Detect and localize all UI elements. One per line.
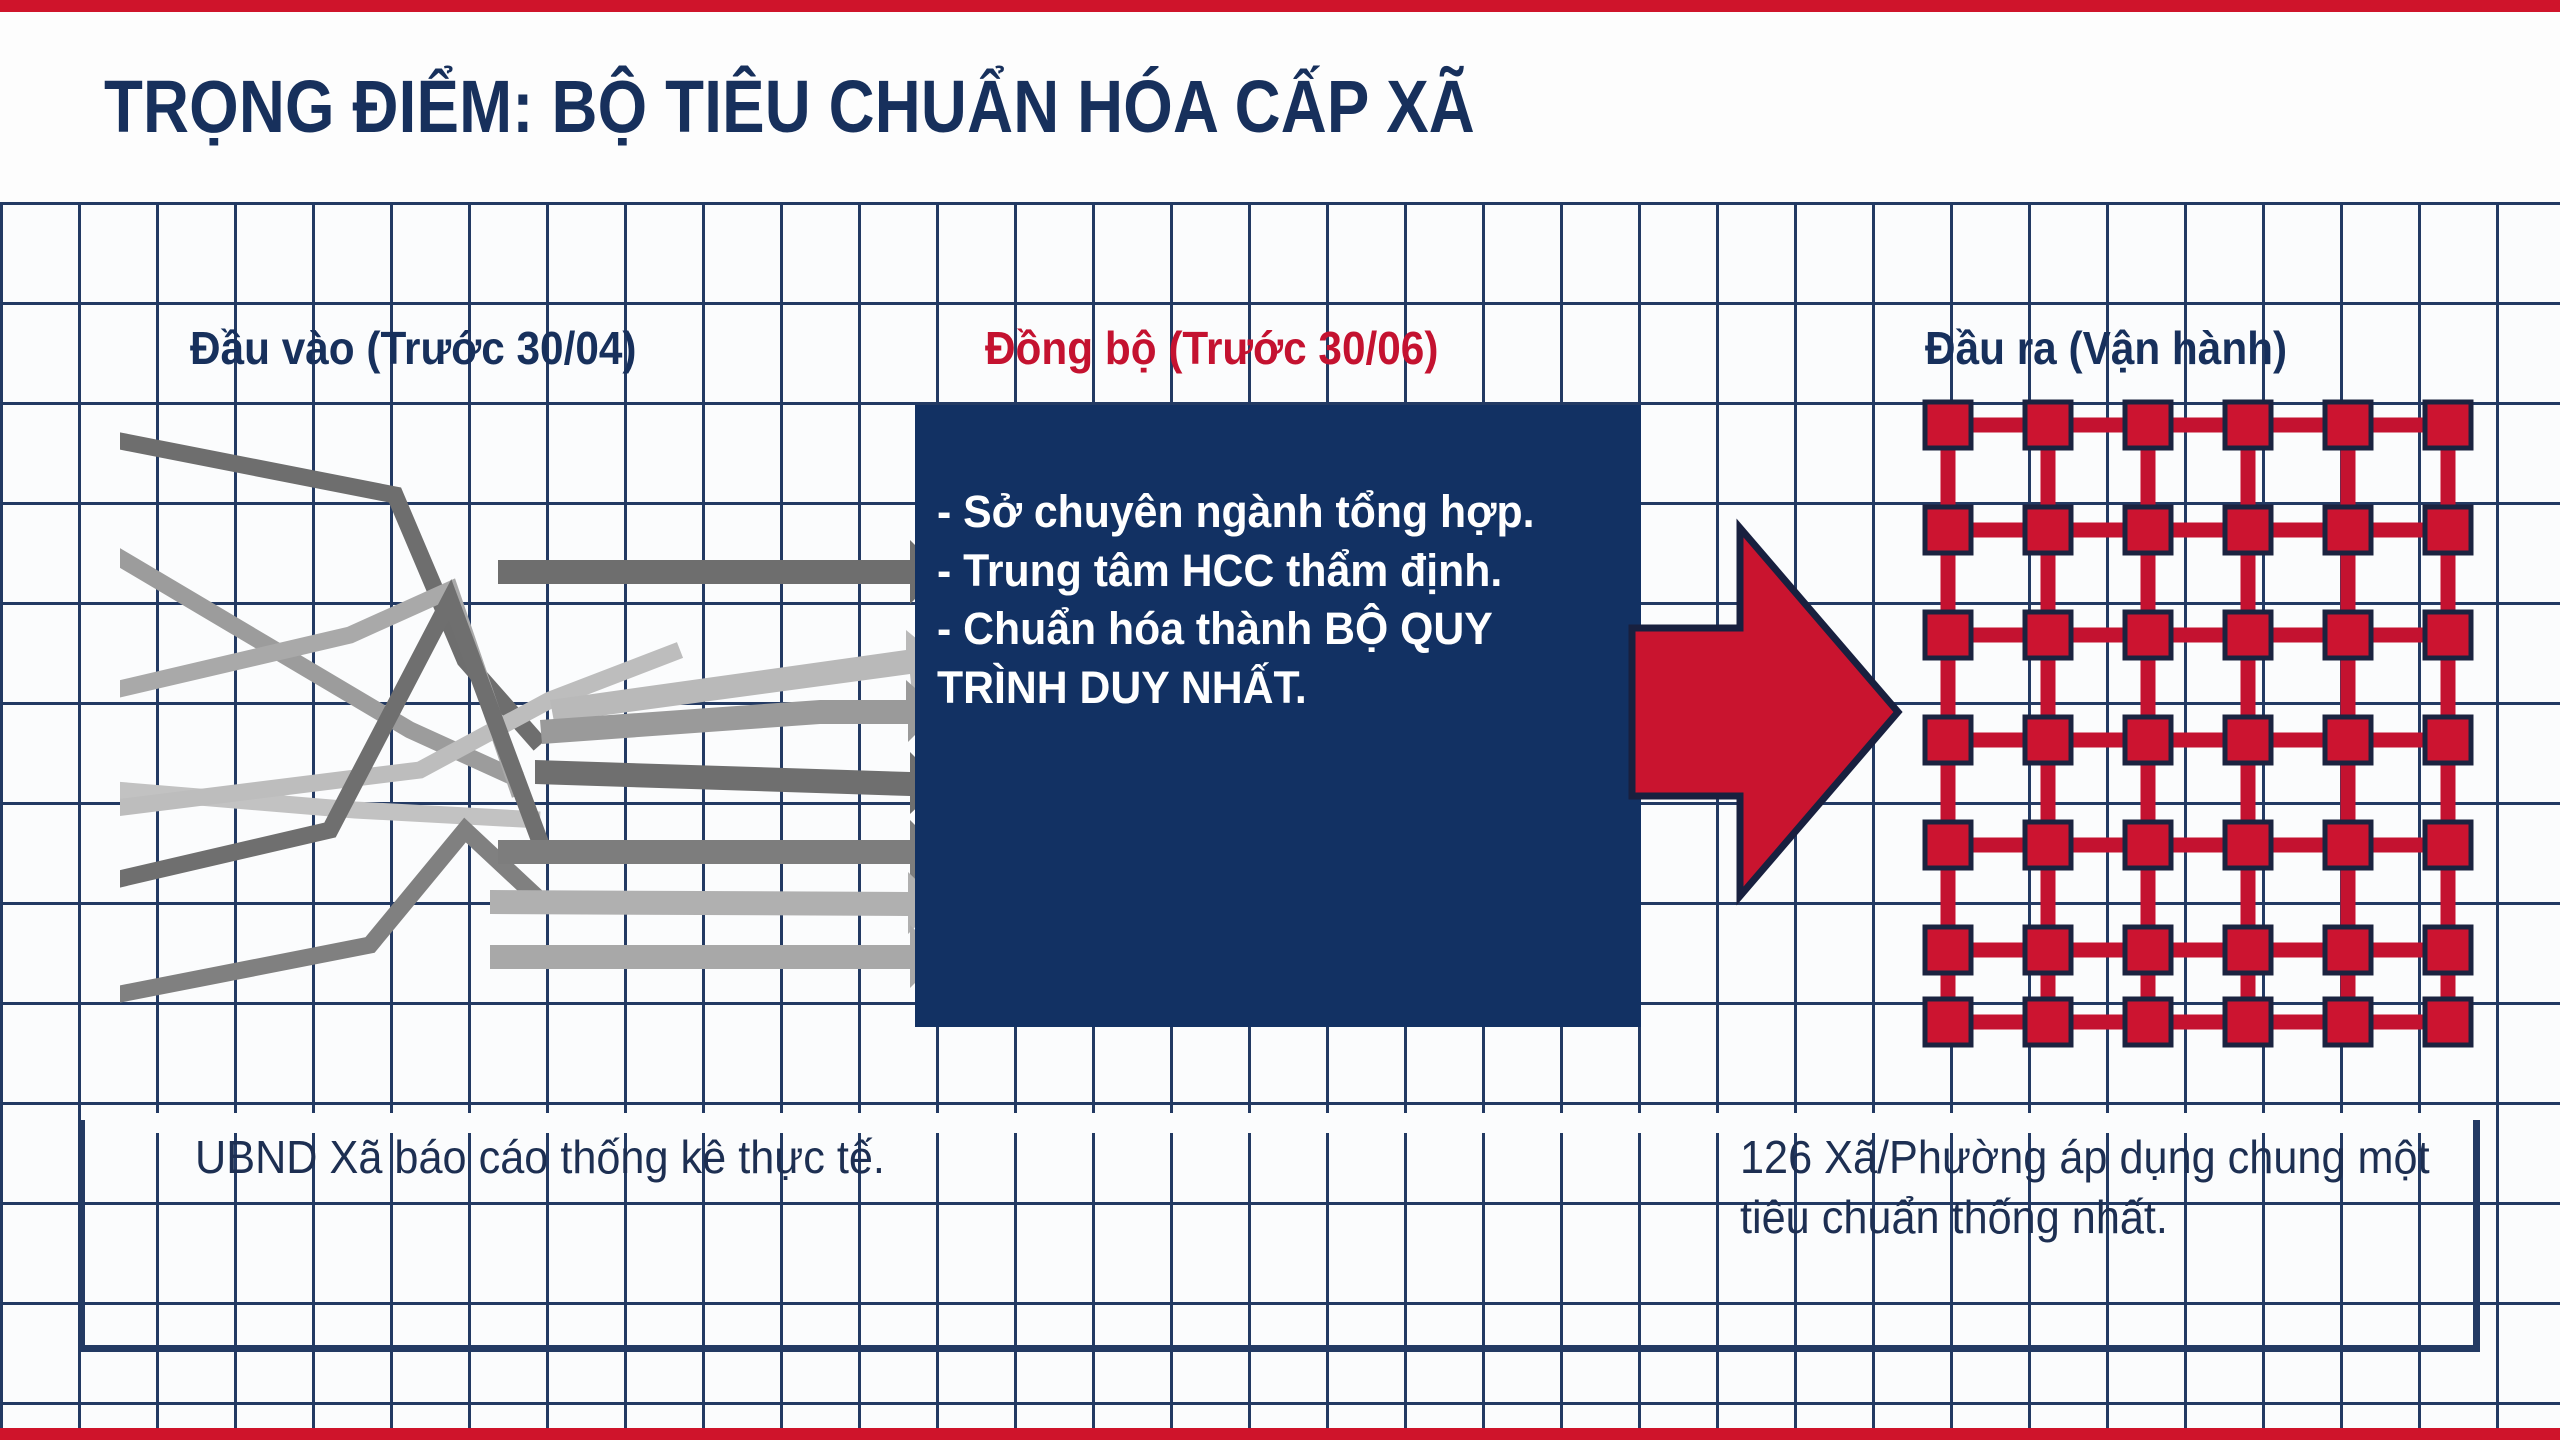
lattice-node xyxy=(2325,999,2371,1045)
column-header-input: Đầu vào (Trước 30/04) xyxy=(190,325,637,371)
lattice-node xyxy=(2325,822,2371,868)
lattice-node xyxy=(2425,612,2471,658)
arrow-1 xyxy=(498,540,940,604)
lattice-node xyxy=(2125,927,2171,973)
title-bar: TRỌNG ĐIỂM: BỘ TIÊU CHUẨN HÓA CẤP XÃ xyxy=(0,12,2560,202)
lattice-node xyxy=(2225,927,2271,973)
sync-detail-box: - Sở chuyên ngành tổng hợp. - Trung tâm … xyxy=(915,405,1641,1027)
lattice-node xyxy=(2025,507,2071,553)
lattice-node xyxy=(2225,402,2271,448)
red-transition-arrow-icon xyxy=(1628,500,1968,920)
lattice-node xyxy=(2225,822,2271,868)
lattice-node xyxy=(2025,822,2071,868)
caption-input: UBND Xã báo cáo thống kê thực tế. xyxy=(195,1128,928,1188)
arrow-7 xyxy=(490,925,940,988)
lattice-node xyxy=(1925,927,1971,973)
page-title: TRỌNG ĐIỂM: BỘ TIÊU CHUẨN HÓA CẤP XÃ xyxy=(104,70,1475,144)
lattice-node xyxy=(2425,717,2471,763)
sync-bullet-3: - Chuẩn hóa thành BỘ QUY TRÌNH DUY NHẤT. xyxy=(937,600,1585,717)
lattice-node xyxy=(2425,822,2471,868)
lattice-node xyxy=(2025,927,2071,973)
lattice-node xyxy=(2125,612,2171,658)
lattice-node xyxy=(2125,717,2171,763)
lattice-node xyxy=(2025,717,2071,763)
column-header-output: Đầu ra (Vận hành) xyxy=(1925,325,2287,371)
lattice-node xyxy=(2225,717,2271,763)
lattice-node xyxy=(1925,402,1971,448)
lattice-node xyxy=(2425,999,2471,1045)
lattice-node xyxy=(2025,612,2071,658)
lattice-node xyxy=(2025,999,2071,1045)
lattice-node xyxy=(2225,612,2271,658)
converging-arrows xyxy=(490,540,940,988)
lattice-node xyxy=(2225,507,2271,553)
caption-output: 126 Xã/Phường áp dụng chung một tiêu chu… xyxy=(1740,1128,2511,1248)
lattice-node xyxy=(2025,402,2071,448)
standardized-output-lattice-graphic xyxy=(1918,392,2478,1052)
lattice-node xyxy=(2325,402,2371,448)
column-header-sync: Đồng bộ (Trước 30/06) xyxy=(985,325,1438,371)
top-accent-bar xyxy=(0,0,2560,12)
lattice-node xyxy=(1925,999,1971,1045)
arrow-4 xyxy=(535,752,940,814)
lattice-node xyxy=(2425,402,2471,448)
lattice-node xyxy=(2125,402,2171,448)
lattice-node xyxy=(2125,999,2171,1045)
arrow-5 xyxy=(498,820,940,884)
lattice-node xyxy=(2125,507,2171,553)
lattice-node xyxy=(2225,999,2271,1045)
bottom-accent-bar xyxy=(0,1428,2560,1440)
lattice-node xyxy=(2125,822,2171,868)
tangled-input-lines-graphic xyxy=(120,400,940,1050)
sync-bullet-2: - Trung tâm HCC thẩm định. xyxy=(937,542,1585,601)
lattice-node xyxy=(2425,507,2471,553)
lattice-node xyxy=(2325,717,2371,763)
lattice-node xyxy=(2325,507,2371,553)
lattice-node xyxy=(2425,927,2471,973)
arrow-6 xyxy=(490,872,940,934)
lattice-node xyxy=(2325,612,2371,658)
sync-bullet-1: - Sở chuyên ngành tổng hợp. xyxy=(937,483,1585,542)
lattice-node xyxy=(2325,927,2371,973)
